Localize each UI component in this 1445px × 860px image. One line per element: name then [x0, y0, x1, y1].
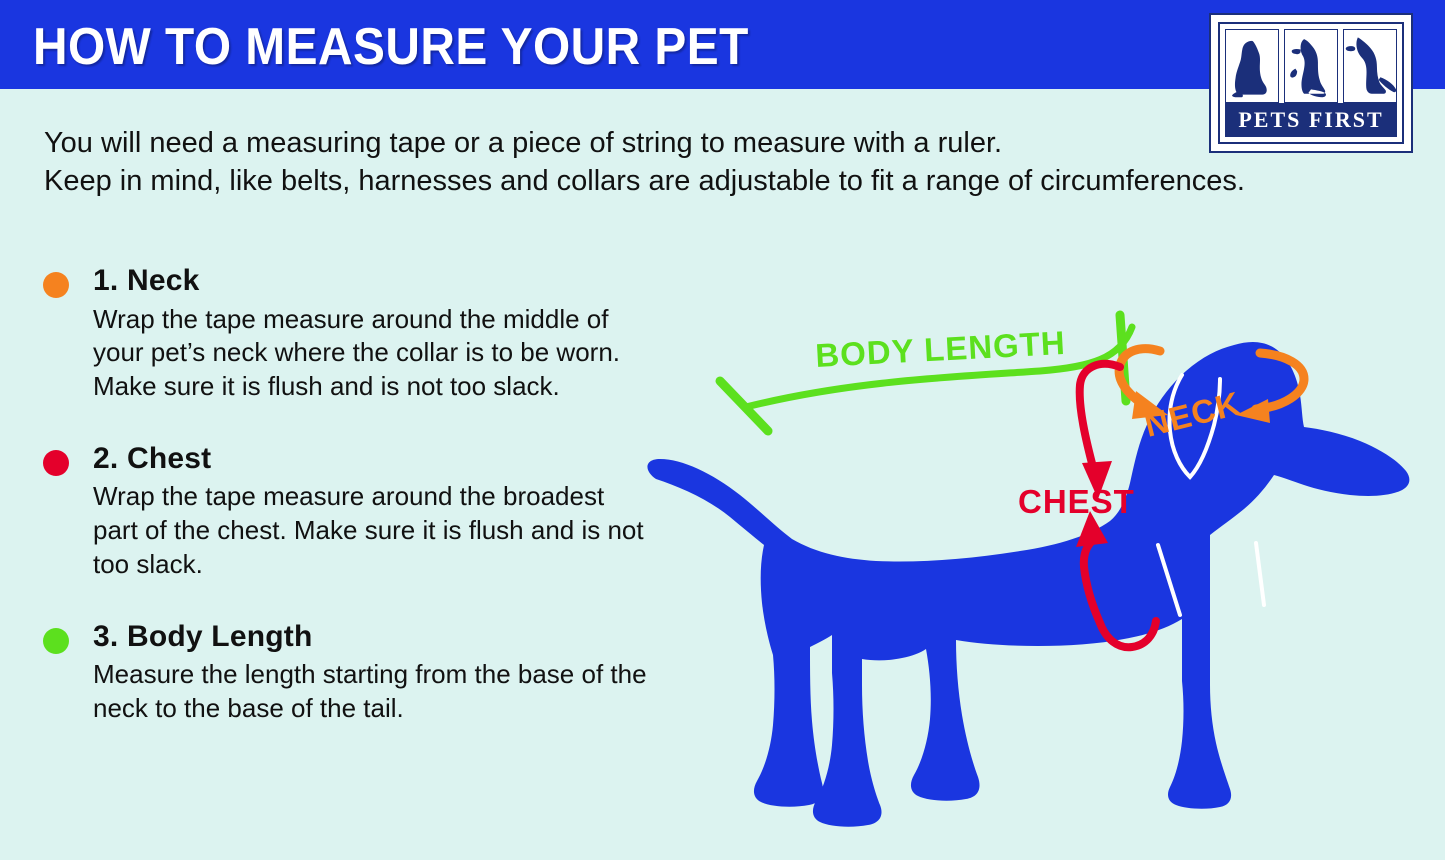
shepherd-dog-icon [1343, 29, 1397, 103]
sitting-dog-icon [1225, 29, 1279, 103]
dog-silhouette [647, 342, 1409, 827]
step-item-neck: 1. Neck Wrap the tape measure around the… [40, 262, 660, 404]
intro-line-2: Keep in mind, like belts, harnesses and … [44, 162, 1204, 200]
logo-brand-name: PETS FIRST [1238, 109, 1383, 131]
step-title-body-length: 3. Body Length [93, 618, 660, 656]
bullet-chest-icon [43, 450, 69, 476]
page-title: HOW TO MEASURE YOUR PET [33, 17, 749, 77]
logo-dog-panels [1225, 29, 1397, 103]
howling-dog-icon [1284, 29, 1338, 103]
step-description-neck: Wrap the tape measure around the middle … [93, 303, 653, 404]
step-description-body-length: Measure the length starting from the bas… [93, 658, 653, 726]
logo-banner: PETS FIRST [1225, 103, 1397, 137]
dog-hind-leg-line [1256, 543, 1264, 605]
logo-inner-frame: PETS FIRST [1218, 22, 1404, 144]
step-title-chest: 2. Chest [93, 440, 660, 478]
label-chest: CHEST [1018, 483, 1135, 520]
step-item-chest: 2. Chest Wrap the tape measure around th… [40, 440, 660, 582]
intro-line-1: You will need a measuring tape or a piec… [44, 124, 1204, 162]
dog-measurement-diagram: BODY LENGTH NECK CHEST [620, 215, 1440, 855]
step-description-chest: Wrap the tape measure around the broades… [93, 480, 653, 581]
step-item-body-length: 3. Body Length Measure the length starti… [40, 618, 660, 726]
bullet-neck-icon [43, 272, 69, 298]
intro-text: You will need a measuring tape or a piec… [44, 124, 1204, 201]
bullet-body-length-icon [43, 628, 69, 654]
step-title-neck: 1. Neck [93, 262, 660, 300]
measurement-steps-list: 1. Neck Wrap the tape measure around the… [40, 262, 660, 758]
label-body-length: BODY LENGTH [814, 324, 1066, 374]
brand-logo: PETS FIRST [1209, 13, 1413, 153]
